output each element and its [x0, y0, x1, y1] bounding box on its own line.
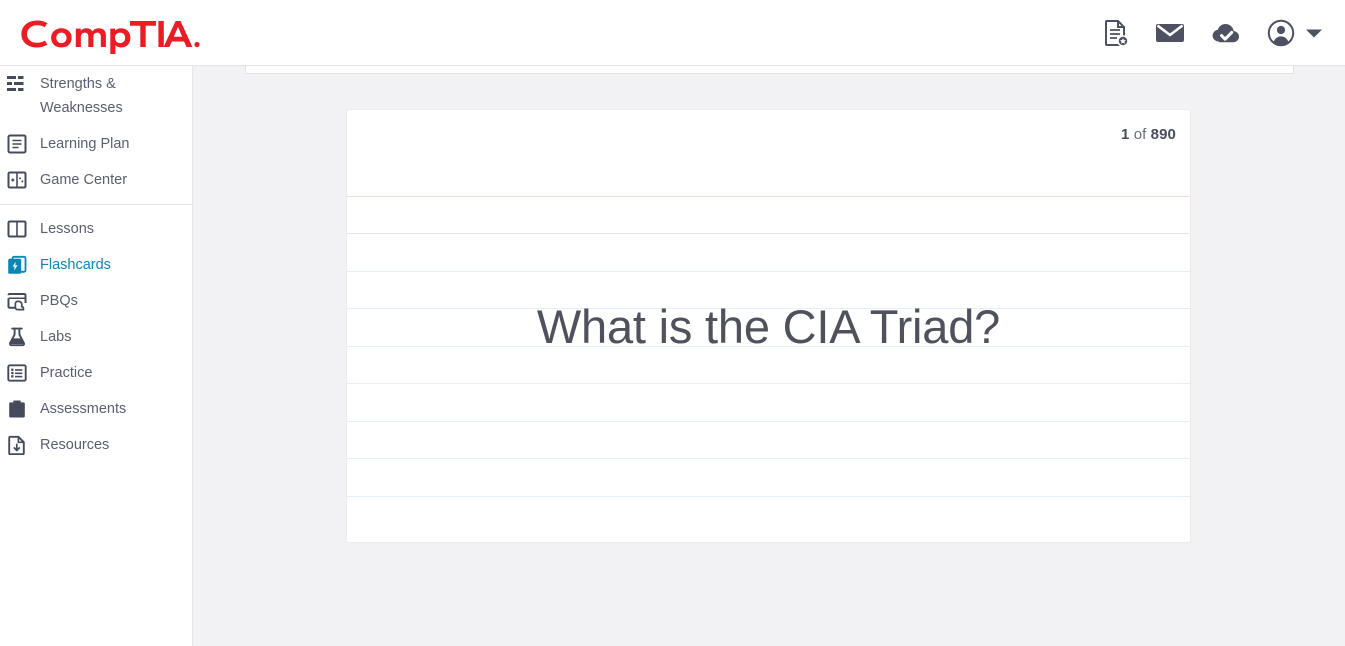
envelope-icon[interactable]: [1155, 21, 1185, 45]
sidebar-item-game-center[interactable]: Game Center: [0, 162, 192, 198]
bar-chart-icon: [6, 72, 28, 96]
sidebar-item-label: Game Center: [40, 168, 127, 192]
cloud-check-icon[interactable]: [1211, 21, 1241, 45]
sidebar-item-label: Practice: [40, 361, 92, 385]
sidebar-item-label: Learning Plan: [40, 132, 130, 156]
account-avatar-icon[interactable]: [1267, 19, 1295, 47]
sidebar-divider: [0, 204, 192, 205]
sidebar-item-label: Assessments: [40, 397, 126, 421]
book-open-icon: [6, 217, 28, 241]
list-icon: [6, 361, 28, 385]
sidebar-item-resources[interactable]: Resources: [0, 427, 192, 463]
game-center-icon: [6, 168, 28, 192]
sidebar-item-learning-plan[interactable]: Learning Plan: [0, 126, 192, 162]
sidebar-item-labs[interactable]: Labs: [0, 319, 192, 355]
sidebar-item-label: Lessons: [40, 217, 94, 241]
learning-plan-icon: [6, 132, 28, 156]
pbq-cursor-icon: [6, 289, 28, 313]
app-header: [0, 0, 1345, 66]
sidebar-item-assessments[interactable]: Assessments: [0, 391, 192, 427]
account-menu[interactable]: [1267, 19, 1323, 47]
flashcard-question-text: What is the CIA Triad?: [347, 110, 1190, 542]
chevron-down-icon[interactable]: [1305, 27, 1323, 39]
download-document-icon: [6, 433, 28, 457]
app-root: Strengths & Weaknesses Learning Plan: [0, 0, 1345, 646]
sidebar-item-lessons[interactable]: Lessons: [0, 211, 192, 247]
sidebar-nav: Strengths & Weaknesses Learning Plan: [0, 66, 193, 646]
sidebar-item-label: PBQs: [40, 289, 78, 313]
flashcard[interactable]: 1 of 890 What is the CIA Triad?: [346, 109, 1191, 543]
sidebar-group-1: Strengths & Weaknesses Learning Plan: [0, 66, 192, 198]
sidebar-item-label: Flashcards: [40, 253, 111, 277]
main-content: 1 of 890 What is the CIA Triad?: [193, 66, 1345, 646]
sidebar-item-strengths-weaknesses[interactable]: Strengths & Weaknesses: [0, 66, 192, 126]
sidebar-item-label: Strengths & Weaknesses: [40, 72, 148, 120]
top-panel-clipped: [245, 66, 1294, 74]
sidebar-item-label: Labs: [40, 325, 71, 349]
comptia-logo[interactable]: [12, 0, 202, 66]
sidebar-group-2: Lessons Flashcards: [0, 211, 192, 463]
clipboard-icon: [6, 397, 28, 421]
document-star-icon[interactable]: [1103, 19, 1129, 47]
sidebar-item-practice[interactable]: Practice: [0, 355, 192, 391]
sidebar-item-label: Resources: [40, 433, 109, 457]
flask-icon: [6, 325, 28, 349]
sidebar-item-flashcards[interactable]: Flashcards: [0, 247, 192, 283]
flashcards-icon: [6, 253, 28, 277]
header-actions: [1103, 19, 1323, 47]
sidebar-item-pbqs[interactable]: PBQs: [0, 283, 192, 319]
